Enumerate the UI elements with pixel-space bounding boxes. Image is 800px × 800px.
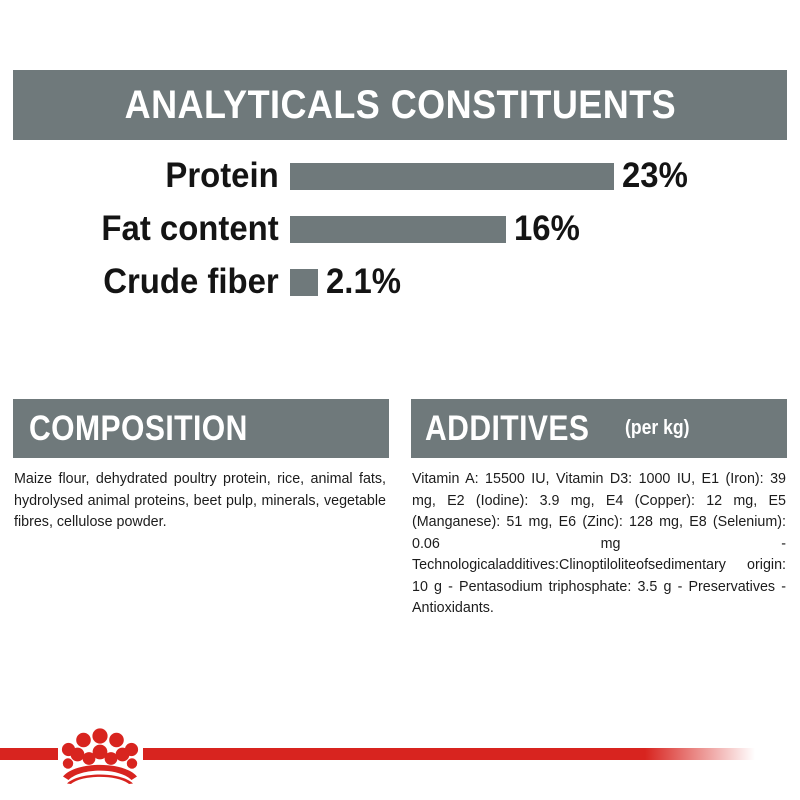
footer-rule-right xyxy=(143,748,755,760)
bar-category-label: Protein xyxy=(17,156,290,196)
royal-canin-crown-icon xyxy=(56,722,144,784)
bar-value-label: 16% xyxy=(514,209,580,249)
additives-body-text: Vitamin A: 15500 IU, Vitamin D3: 1000 IU… xyxy=(412,469,786,620)
analytics-section-title: ANALYTICALS CONSTITUENTS xyxy=(124,83,675,128)
additives-section-header: ADDITIVES (per kg) xyxy=(411,399,787,458)
bar-value-label: 23% xyxy=(622,156,688,196)
analytics-section-header: ANALYTICALS CONSTITUENTS xyxy=(13,70,787,140)
bar-crude-fiber xyxy=(290,269,318,296)
bar-protein xyxy=(290,163,614,190)
composition-body-text: Maize flour, dehydrated poultry protein,… xyxy=(14,469,386,534)
bar-category-label: Fat content xyxy=(17,209,290,249)
additives-section-subtitle: (per kg) xyxy=(625,417,690,440)
additives-section-title: ADDITIVES xyxy=(425,409,589,449)
chart-row: Protein 23% xyxy=(0,152,800,200)
analytics-bar-chart: Protein 23% Fat content 16% Crude fiber … xyxy=(0,152,800,312)
composition-section-header: COMPOSITION xyxy=(13,399,389,458)
bar-value-label: 2.1% xyxy=(326,262,401,302)
nutrition-panel: ANALYTICALS CONSTITUENTS Protein 23% Fat… xyxy=(0,0,800,800)
chart-row: Fat content 16% xyxy=(0,205,800,253)
footer-rule-left xyxy=(0,748,58,760)
chart-row: Crude fiber 2.1% xyxy=(0,258,800,306)
brand-footer xyxy=(0,712,800,800)
composition-section-title: COMPOSITION xyxy=(29,409,248,449)
bar-category-label: Crude fiber xyxy=(17,262,290,302)
bar-fat-content xyxy=(290,216,506,243)
